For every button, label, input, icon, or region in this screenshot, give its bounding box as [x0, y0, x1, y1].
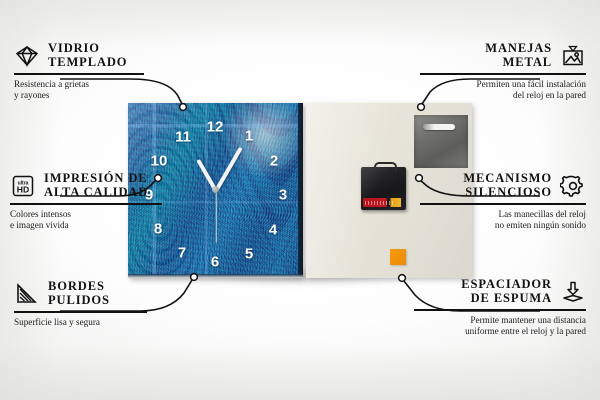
- metal-hanger-plate: [414, 115, 468, 168]
- gear-icon: [560, 174, 586, 198]
- feature-title: MECANISMO SILENCIOSO: [463, 172, 552, 199]
- feature-subtitle: Permite mantener una distancia uniforme …: [414, 315, 586, 338]
- feature-header: BORDES PULIDOS: [14, 280, 164, 307]
- mechanism-label-text: [365, 201, 395, 205]
- feature-header: VIDRIO TEMPLADO: [14, 42, 164, 69]
- infographic-canvas: 12 1 2 3 4 5 6 7 8 9 10 11: [0, 0, 600, 400]
- feature-rule: [14, 73, 144, 75]
- second-hand: [215, 191, 216, 243]
- foam-spacer-icon: [560, 280, 586, 304]
- feature-vidrio-templado: VIDRIO TEMPLADO Resistencia a grietas y …: [14, 42, 164, 102]
- feature-subtitle: Colores intensos e imagen vívida: [10, 209, 180, 232]
- clock-numeral-3: 3: [279, 188, 287, 203]
- clock-numeral-12: 12: [207, 120, 224, 135]
- svg-text:HD: HD: [17, 184, 29, 194]
- feature-manejas-metal: MANEJAS METAL Permiten una fácil instala…: [420, 42, 586, 102]
- feature-rule: [420, 203, 586, 205]
- feature-title: BORDES PULIDOS: [48, 280, 110, 307]
- silent-quartz-mechanism: [361, 167, 406, 210]
- hanger-slot: [423, 124, 455, 130]
- clock-right-edge: [298, 103, 303, 278]
- feature-header: MECANISMO SILENCIOSO: [420, 172, 586, 199]
- feature-subtitle: Resistencia a grietas y rayones: [14, 79, 164, 102]
- foam-spacer: [390, 249, 406, 265]
- polished-edges-icon: [14, 282, 40, 306]
- clock-numeral-2: 2: [270, 154, 278, 169]
- feature-header: ultra HD IMPRESIÓN DE ALTA CALIDAD: [10, 172, 180, 199]
- feature-rule: [414, 309, 586, 311]
- clock-numeral-1: 1: [245, 129, 253, 144]
- feature-subtitle: Permiten una fácil instalación del reloj…: [420, 79, 586, 102]
- clock-numeral-4: 4: [269, 223, 277, 238]
- feature-bordes-pulidos: BORDES PULIDOS Superficie lisa y segura: [14, 280, 164, 328]
- feature-title: ESPACIADOR DE ESPUMA: [461, 278, 552, 305]
- ultra-hd-icon: ultra HD: [10, 174, 36, 198]
- clock-numeral-7: 7: [178, 246, 186, 261]
- diamond-icon: [14, 44, 40, 68]
- feature-rule: [10, 203, 162, 205]
- feature-title: VIDRIO TEMPLADO: [48, 42, 127, 69]
- clock-numeral-5: 5: [245, 247, 253, 262]
- feature-mecanismo-silencioso: MECANISMO SILENCIOSO Las manecillas del …: [420, 172, 586, 232]
- clock-center-pivot: [212, 186, 219, 193]
- clock-bottom-edge: [128, 274, 303, 278]
- feature-title: IMPRESIÓN DE ALTA CALIDAD: [44, 172, 148, 199]
- feature-subtitle: Superficie lisa y segura: [14, 317, 164, 329]
- feature-espaciador-espuma: ESPACIADOR DE ESPUMA Permite mantener un…: [414, 278, 586, 338]
- picture-hanger-icon: [560, 44, 586, 68]
- clock-numeral-6: 6: [211, 255, 219, 270]
- feature-header: MANEJAS METAL: [420, 42, 586, 69]
- feature-title: MANEJAS METAL: [485, 42, 552, 69]
- feature-header: ESPACIADOR DE ESPUMA: [414, 278, 586, 305]
- clock-numeral-10: 10: [151, 154, 168, 169]
- feature-subtitle: Las manecillas del reloj no emiten ningú…: [420, 209, 586, 232]
- feature-rule: [420, 73, 586, 75]
- feature-impresion-alta-calidad: ultra HD IMPRESIÓN DE ALTA CALIDAD Color…: [10, 172, 180, 232]
- feature-rule: [14, 311, 147, 313]
- clock-numeral-11: 11: [175, 130, 191, 145]
